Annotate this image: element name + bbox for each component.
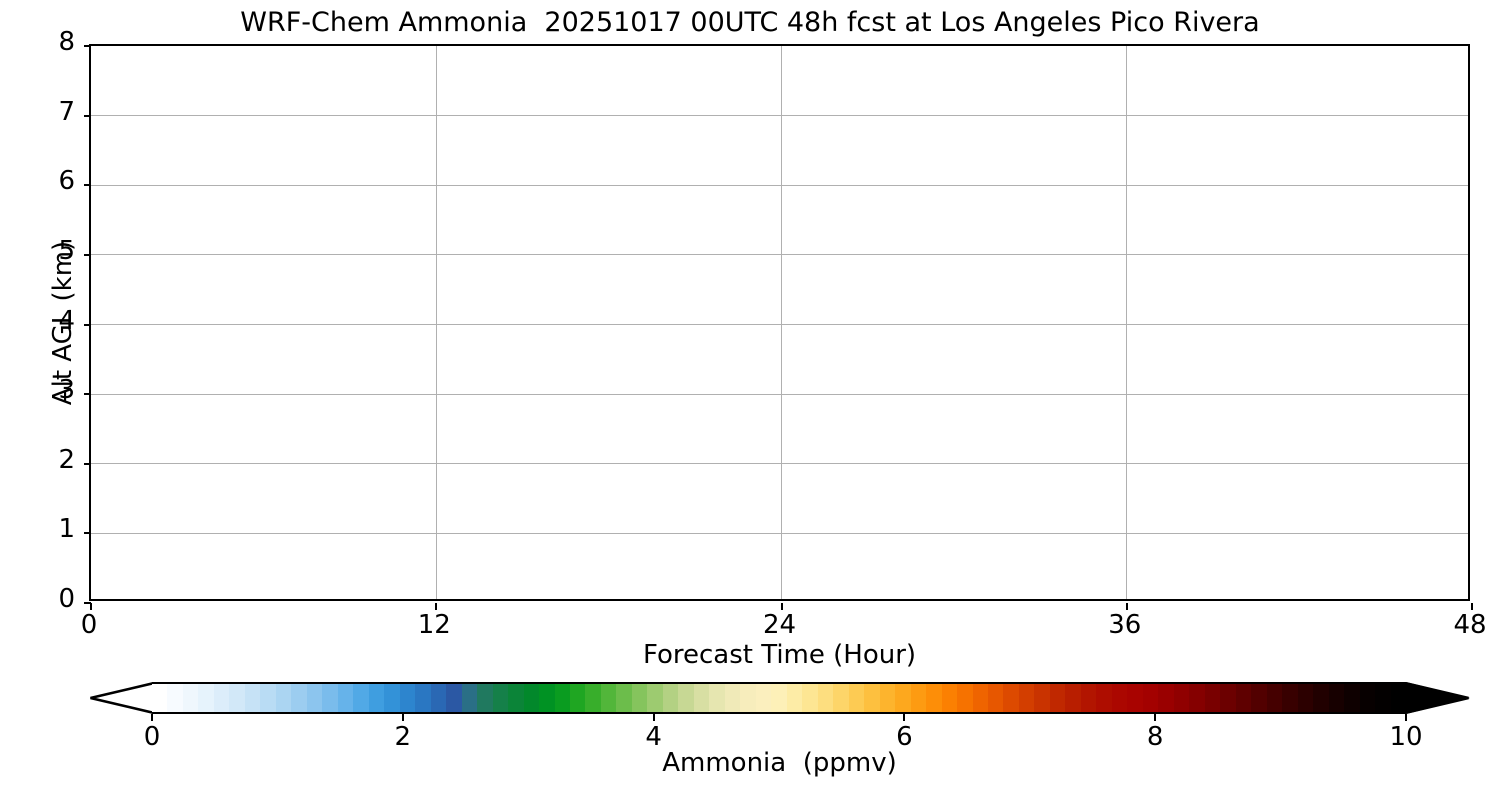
colorbar-segment bbox=[1081, 684, 1097, 712]
colorbar-segment bbox=[771, 684, 787, 712]
y-tick-mark bbox=[84, 115, 91, 117]
x-tick-mark bbox=[781, 603, 783, 610]
colorbar-segment bbox=[462, 684, 478, 712]
colorbar-segment bbox=[307, 684, 323, 712]
colorbar-segment bbox=[1019, 684, 1035, 712]
colorbar-segment bbox=[369, 684, 385, 712]
colorbar-segment bbox=[1189, 684, 1205, 712]
colorbar-segment bbox=[1034, 684, 1050, 712]
y-tick-mark bbox=[84, 463, 91, 465]
colorbar-tick-mark bbox=[1405, 714, 1407, 721]
colorbar-segment bbox=[198, 684, 214, 712]
colorbar-segment bbox=[183, 684, 199, 712]
colorbar-gradient bbox=[152, 682, 1406, 714]
colorbar-segment bbox=[260, 684, 276, 712]
colorbar-segment bbox=[678, 684, 694, 712]
colorbar-segment bbox=[756, 684, 772, 712]
chart-figure: WRF-Chem Ammonia 20251017 00UTC 48h fcst… bbox=[0, 0, 1500, 800]
y-tick-label: 8 bbox=[0, 27, 75, 57]
y-tick-label: 4 bbox=[0, 306, 75, 336]
colorbar-tick-mark bbox=[1154, 714, 1156, 721]
y-tick-mark bbox=[84, 393, 91, 395]
y-tick-label: 7 bbox=[0, 97, 75, 127]
colorbar-segment bbox=[555, 684, 571, 712]
colorbar-over-arrow bbox=[1406, 682, 1470, 714]
colorbar-segment bbox=[1236, 684, 1252, 712]
colorbar-tick-mark bbox=[402, 714, 404, 721]
colorbar-segment bbox=[1391, 684, 1406, 712]
colorbar-segment bbox=[570, 684, 586, 712]
colorbar-segment bbox=[415, 684, 431, 712]
colorbar-label: Ammonia (ppmv) bbox=[89, 748, 1470, 778]
x-tick-label: 48 bbox=[1410, 610, 1500, 640]
colorbar-segment bbox=[214, 684, 230, 712]
colorbar-segment bbox=[508, 684, 524, 712]
colorbar-tick-mark bbox=[151, 714, 153, 721]
colorbar-segment bbox=[245, 684, 261, 712]
colorbar-segment bbox=[1158, 684, 1174, 712]
colorbar-segment bbox=[167, 684, 183, 712]
y-tick-label: 1 bbox=[0, 514, 75, 544]
colorbar-segment bbox=[833, 684, 849, 712]
colorbar-segment bbox=[973, 684, 989, 712]
colorbar-segment bbox=[663, 684, 679, 712]
colorbar-segment bbox=[802, 684, 818, 712]
grid-line-horizontal bbox=[91, 394, 1468, 395]
y-tick-mark bbox=[84, 254, 91, 256]
colorbar-segment bbox=[1174, 684, 1190, 712]
colorbar-segment bbox=[322, 684, 338, 712]
colorbar-tick-mark bbox=[903, 714, 905, 721]
grid-line-horizontal bbox=[91, 463, 1468, 464]
x-tick-label: 36 bbox=[1065, 610, 1185, 640]
colorbar-segment bbox=[942, 684, 958, 712]
x-axis-label: Forecast Time (Hour) bbox=[89, 640, 1470, 670]
colorbar-segment bbox=[477, 684, 493, 712]
x-tick-label: 0 bbox=[29, 610, 149, 640]
colorbar-segment bbox=[601, 684, 617, 712]
x-tick-label: 24 bbox=[720, 610, 840, 640]
colorbar-segment bbox=[818, 684, 834, 712]
colorbar-segment bbox=[1050, 684, 1066, 712]
colorbar-segment bbox=[632, 684, 648, 712]
colorbar-segment bbox=[539, 684, 555, 712]
colorbar-segment bbox=[880, 684, 896, 712]
colorbar-segment bbox=[229, 684, 245, 712]
colorbar-segment bbox=[1003, 684, 1019, 712]
x-tick-mark bbox=[1126, 603, 1128, 610]
grid-line-horizontal bbox=[91, 533, 1468, 534]
colorbar-segment bbox=[1313, 684, 1329, 712]
colorbar-segment bbox=[1360, 684, 1376, 712]
y-tick-mark bbox=[84, 45, 91, 47]
chart-title: WRF-Chem Ammonia 20251017 00UTC 48h fcst… bbox=[0, 9, 1500, 37]
colorbar-segment bbox=[1065, 684, 1081, 712]
colorbar-segment bbox=[276, 684, 292, 712]
y-tick-label: 2 bbox=[0, 445, 75, 475]
colorbar-segment bbox=[446, 684, 462, 712]
grid-line-horizontal bbox=[91, 324, 1468, 325]
colorbar-segment bbox=[911, 684, 927, 712]
x-tick-mark bbox=[435, 603, 437, 610]
colorbar-segment bbox=[585, 684, 601, 712]
colorbar-tick-mark bbox=[653, 714, 655, 721]
colorbar-segment bbox=[1329, 684, 1345, 712]
colorbar-segment bbox=[431, 684, 447, 712]
grid-line-horizontal bbox=[91, 254, 1468, 255]
colorbar-segment bbox=[957, 684, 973, 712]
colorbar-segment bbox=[647, 684, 663, 712]
grid-line-horizontal bbox=[91, 185, 1468, 186]
colorbar-segment bbox=[864, 684, 880, 712]
grid-line-vertical bbox=[436, 46, 437, 599]
colorbar-segment bbox=[849, 684, 865, 712]
colorbar-segment bbox=[152, 684, 168, 712]
colorbar-segment bbox=[1282, 684, 1298, 712]
colorbar-segment bbox=[384, 684, 400, 712]
colorbar-segment bbox=[988, 684, 1004, 712]
grid-line-vertical bbox=[781, 46, 782, 599]
colorbar-segment bbox=[1375, 684, 1391, 712]
y-tick-mark bbox=[84, 324, 91, 326]
colorbar-segment bbox=[709, 684, 725, 712]
grid-line-horizontal bbox=[91, 115, 1468, 116]
colorbar-segment bbox=[400, 684, 416, 712]
colorbar-segment bbox=[1298, 684, 1314, 712]
colorbar-segment bbox=[1205, 684, 1221, 712]
colorbar[interactable]: 0246810 bbox=[89, 682, 1470, 714]
colorbar-segment bbox=[740, 684, 756, 712]
colorbar-segment bbox=[1143, 684, 1159, 712]
colorbar-segment bbox=[493, 684, 509, 712]
grid-line-vertical bbox=[1126, 46, 1127, 599]
colorbar-segment bbox=[1220, 684, 1236, 712]
y-tick-mark bbox=[84, 532, 91, 534]
colorbar-segment bbox=[1127, 684, 1143, 712]
colorbar-segment bbox=[787, 684, 803, 712]
colorbar-under-arrow bbox=[89, 682, 153, 714]
y-tick-mark bbox=[84, 184, 91, 186]
colorbar-segment bbox=[1112, 684, 1128, 712]
colorbar-segment bbox=[616, 684, 632, 712]
colorbar-segment bbox=[353, 684, 369, 712]
colorbar-segment bbox=[1251, 684, 1267, 712]
colorbar-segment bbox=[291, 684, 307, 712]
y-tick-label: 5 bbox=[0, 236, 75, 266]
colorbar-segment bbox=[926, 684, 942, 712]
y-tick-label: 6 bbox=[0, 166, 75, 196]
colorbar-segment bbox=[1344, 684, 1360, 712]
colorbar-segment bbox=[524, 684, 540, 712]
x-tick-label: 12 bbox=[374, 610, 494, 640]
plot-area: Alt AGL (km) bbox=[89, 44, 1470, 601]
colorbar-segment bbox=[338, 684, 354, 712]
y-tick-label: 3 bbox=[0, 375, 75, 405]
colorbar-segment bbox=[725, 684, 741, 712]
colorbar-segment bbox=[1267, 684, 1283, 712]
x-tick-mark bbox=[90, 603, 92, 610]
x-tick-mark bbox=[1471, 603, 1473, 610]
colorbar-segment bbox=[694, 684, 710, 712]
colorbar-segment bbox=[1096, 684, 1112, 712]
colorbar-segment bbox=[895, 684, 911, 712]
